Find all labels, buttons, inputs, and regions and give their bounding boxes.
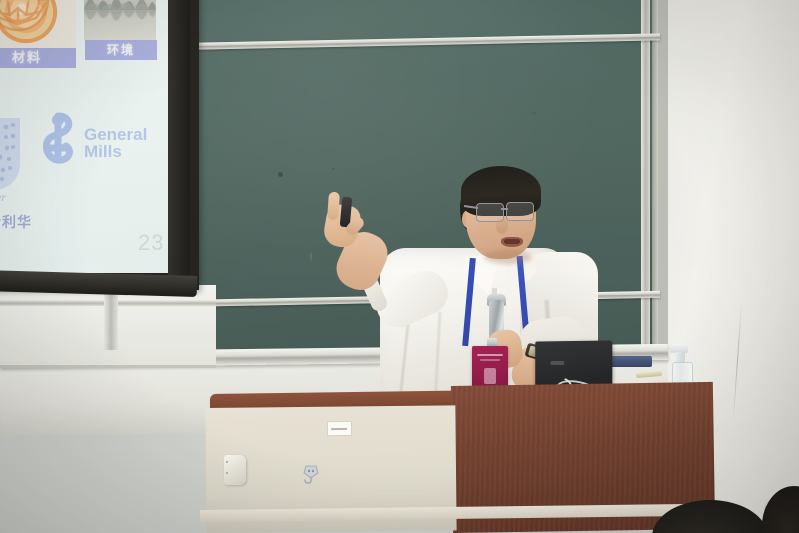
chin-shadow	[484, 250, 532, 264]
unilever-U-icon	[0, 118, 20, 190]
laptop-logo	[551, 361, 565, 365]
unilever-chinese-name: 联合利华	[0, 212, 62, 232]
nose	[496, 218, 508, 234]
asset-label	[327, 421, 352, 436]
fullerene-icon	[0, 0, 74, 42]
general-mills-symbol-icon	[34, 108, 84, 174]
slide-number: 23	[138, 230, 164, 256]
projection-screen-right-edge	[168, 0, 190, 280]
mouth-interior	[504, 239, 520, 244]
general-mills-line2: Mills	[84, 143, 164, 160]
lecture-photo: 材料 环境	[0, 0, 799, 533]
eyebrow-left	[477, 198, 501, 201]
eyeglasses-bridge	[501, 208, 508, 210]
unilever-wordmark: Unilever	[0, 190, 34, 204]
slide-thumbnail-materials	[0, 0, 76, 48]
index-finger	[327, 192, 340, 221]
chalkboard-divider	[641, 0, 650, 354]
whiteboard-bracket	[104, 288, 118, 350]
projection-screen: 材料 环境	[0, 0, 176, 273]
unilever-logo	[0, 118, 20, 190]
slide-thumbnail-environment	[84, 0, 156, 40]
eyeglasses-right-lens	[506, 202, 534, 221]
general-mills-wordmark: General Mills	[84, 126, 164, 160]
cable-hook-icon[interactable]	[303, 464, 319, 484]
hills-reflection-icon	[84, 10, 156, 34]
thumbnail-caption-environment: 环境	[85, 40, 157, 60]
general-mills-line1: General	[84, 126, 164, 143]
eyebrow-right	[507, 197, 531, 200]
badge-emblem	[484, 368, 496, 384]
hills-icon	[84, 0, 156, 10]
lectern-fixture-box[interactable]	[224, 455, 246, 485]
thumbnail-caption-materials: 材料	[0, 48, 76, 68]
chalkboard-edge	[652, 0, 658, 364]
